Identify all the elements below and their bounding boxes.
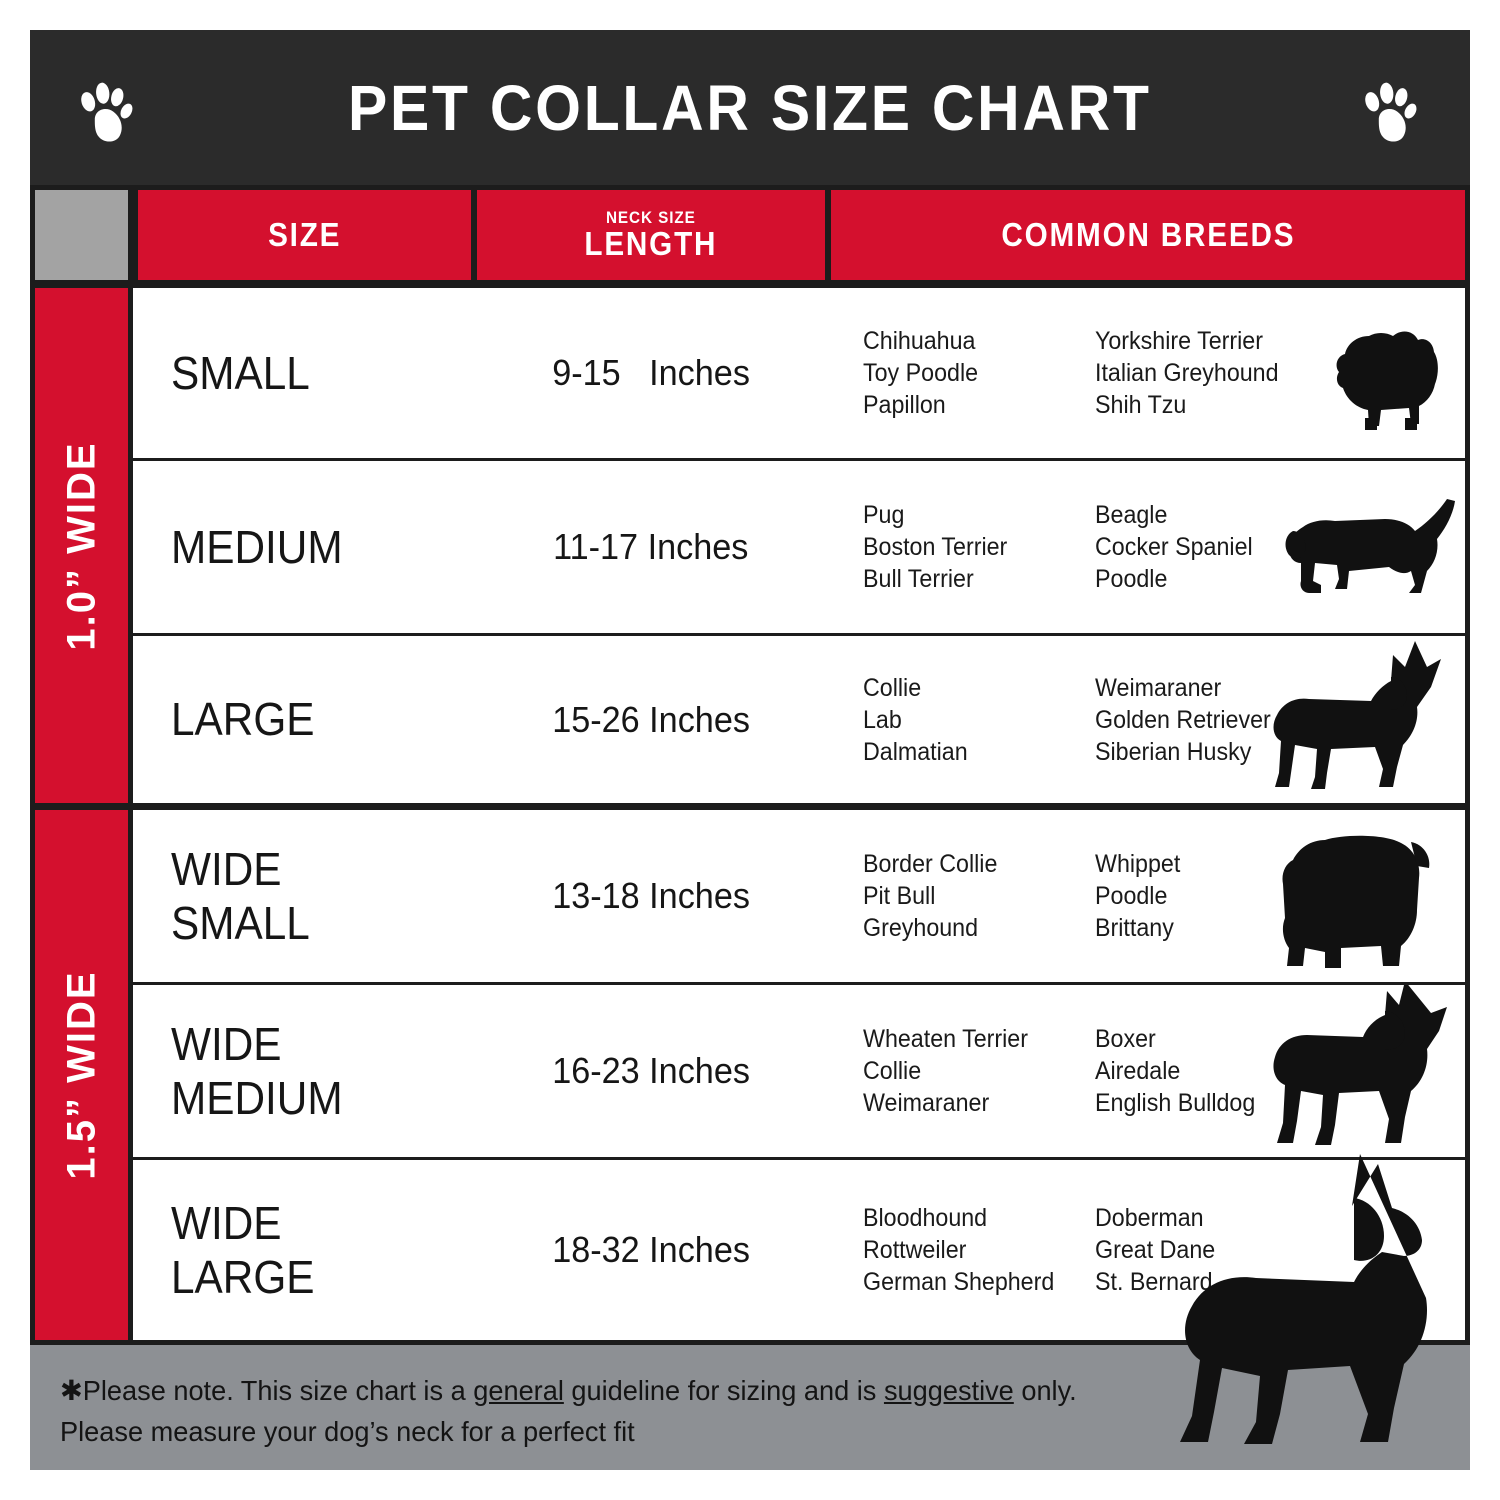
group-label-text: 1.5” WIDE	[59, 970, 104, 1179]
cell-breeds: CollieLabDalmatian WeimaranerGolden Retr…	[831, 636, 1465, 803]
breed-name: German Shepherd	[863, 1266, 1079, 1298]
length-value: 16-23 Inches	[552, 1050, 750, 1092]
table-row[interactable]: WIDE LARGE 18-32 Inches BloodhoundRottwe…	[133, 1160, 1465, 1340]
cell-breeds: ChihuahuaToy PoodlePapillon Yorkshire Te…	[831, 288, 1465, 458]
breed-list-col2: BoxerAiredaleEnglish Bulldog	[1095, 1023, 1328, 1119]
breed-list-col2: Yorkshire TerrierItalian GreyhoundShih T…	[1095, 325, 1328, 421]
breed-name: Great Dane	[1095, 1234, 1328, 1266]
breed-name: Shih Tzu	[1095, 389, 1328, 421]
breed-list-col2: DobermanGreat DaneSt. Bernard	[1095, 1202, 1328, 1298]
breed-list-col1: BloodhoundRottweilerGerman Shepherd	[863, 1202, 1079, 1298]
size-label: WIDE LARGE	[171, 1196, 314, 1305]
cell-length: 9-15 Inches	[477, 288, 825, 458]
breed-name: Airedale	[1095, 1055, 1328, 1087]
length-value: 15-26 Inches	[552, 699, 750, 741]
breed-list-col1: Wheaten TerrierCollieWeimaraner	[863, 1023, 1079, 1119]
footer-line-1: ✱Please note. This size chart is a gener…	[60, 1371, 1399, 1412]
cell-length: 16-23 Inches	[477, 985, 825, 1157]
length-value: 18-32 Inches	[552, 1229, 750, 1271]
table-row[interactable]: SMALL 9-15 Inches ChihuahuaToy PoodlePap…	[133, 288, 1465, 458]
breed-name: Rottweiler	[863, 1234, 1079, 1266]
cell-size: SMALL	[133, 288, 471, 458]
breed-name: Collie	[863, 1055, 1079, 1087]
breed-list-col2: WhippetPoodleBrittany	[1095, 848, 1328, 944]
pet-collar-size-chart: PET COLLAR SIZE CHART SIZE NECK SIZE LEN…	[30, 30, 1470, 1470]
paw-print-icon	[1359, 80, 1425, 146]
table-row[interactable]: MEDIUM 11-17 Inches PugBoston TerrierBul…	[133, 461, 1465, 633]
breed-list-col1: ChihuahuaToy PoodlePapillon	[863, 325, 1079, 421]
footer-underlined-suggestive: suggestive	[884, 1375, 1014, 1406]
cell-size: MEDIUM	[133, 461, 471, 633]
breed-name: Weimaraner	[1095, 672, 1328, 704]
breed-name: Whippet	[1095, 848, 1328, 880]
group-label-text: 1.0” WIDE	[59, 441, 104, 650]
size-label: LARGE	[171, 692, 314, 746]
chart-header: PET COLLAR SIZE CHART	[30, 30, 1470, 185]
length-value: 13-18 Inches	[552, 875, 750, 917]
column-header-size-label: SIZE	[268, 216, 341, 254]
table-header-row: SIZE NECK SIZE LENGTH COMMON BREEDS	[30, 185, 1470, 285]
cell-breeds: Wheaten TerrierCollieWeimaraner BoxerAir…	[831, 985, 1465, 1157]
breed-name: Chihuahua	[863, 325, 1079, 357]
breed-name: English Bulldog	[1095, 1087, 1328, 1119]
row-group-1-0-wide: 1.0” WIDE SMALL 9-15 Inches ChihuahuaToy…	[30, 288, 1470, 803]
breed-name: Bull Terrier	[863, 563, 1079, 595]
breed-name: Pit Bull	[863, 880, 1079, 912]
footer-text-a: ✱Please note. This size chart is a	[60, 1375, 473, 1406]
breed-name: St. Bernard	[1095, 1266, 1328, 1298]
cell-length: 13-18 Inches	[477, 810, 825, 982]
column-header-breeds-label: COMMON BREEDS	[1001, 216, 1295, 254]
breed-name: Lab	[863, 704, 1079, 736]
column-header-length-label: LENGTH	[585, 225, 718, 263]
cell-size: WIDE MEDIUM	[133, 985, 471, 1157]
cell-size: LARGE	[133, 636, 471, 803]
breed-list-col1: CollieLabDalmatian	[863, 672, 1079, 768]
footer-text-b: guideline for sizing and is	[564, 1375, 884, 1406]
cell-size: WIDE LARGE	[133, 1160, 471, 1340]
breed-name: Cocker Spaniel	[1095, 531, 1328, 563]
breed-name: Doberman	[1095, 1202, 1328, 1234]
column-header-size: SIZE	[138, 190, 471, 280]
breed-list-col2: BeagleCocker SpanielPoodle	[1095, 499, 1328, 595]
footer-note: ✱Please note. This size chart is a gener…	[30, 1345, 1470, 1470]
size-label: WIDE MEDIUM	[171, 1017, 343, 1126]
row-group-1-5-wide: 1.5” WIDE WIDE SMALL 13-18 Inches Border…	[30, 810, 1470, 1340]
column-header-length: NECK SIZE LENGTH	[477, 190, 825, 280]
table-row[interactable]: LARGE 15-26 Inches CollieLabDalmatian We…	[133, 636, 1465, 803]
breed-name: Weimaraner	[863, 1087, 1079, 1119]
size-label: WIDE SMALL	[171, 842, 310, 951]
breed-name: Boston Terrier	[863, 531, 1079, 563]
group-label-1-5-wide: 1.5” WIDE	[35, 810, 128, 1340]
breed-list-col2: WeimaranerGolden RetrieverSiberian Husky	[1095, 672, 1328, 768]
size-label: MEDIUM	[171, 520, 343, 574]
table-row[interactable]: WIDE MEDIUM 16-23 Inches Wheaten Terrier…	[133, 985, 1465, 1157]
footer-text-c: only.	[1014, 1375, 1077, 1406]
footer-line-2: Please measure your dog’s neck for a per…	[60, 1412, 1399, 1453]
group-label-1-0-wide: 1.0” WIDE	[35, 288, 128, 803]
column-header-breeds: COMMON BREEDS	[831, 190, 1465, 280]
breed-name: Dalmatian	[863, 736, 1079, 768]
page-title: PET COLLAR SIZE CHART	[348, 71, 1152, 145]
cell-size: WIDE SMALL	[133, 810, 471, 982]
table-corner-cell	[35, 190, 128, 280]
cell-length: 11-17 Inches	[477, 461, 825, 633]
breed-name: Border Collie	[863, 848, 1079, 880]
cell-length: 18-32 Inches	[477, 1160, 825, 1340]
breed-name: Beagle	[1095, 499, 1328, 531]
cell-breeds: BloodhoundRottweilerGerman Shepherd Dobe…	[831, 1160, 1465, 1340]
breed-name: Poodle	[1095, 880, 1328, 912]
group-rows: SMALL 9-15 Inches ChihuahuaToy PoodlePap…	[133, 288, 1465, 803]
breed-list-col1: Border ColliePit BullGreyhound	[863, 848, 1079, 944]
breed-name: Golden Retriever	[1095, 704, 1328, 736]
size-table: SIZE NECK SIZE LENGTH COMMON BREEDS 1.0”…	[30, 185, 1470, 1345]
length-value: 9-15 Inches	[552, 352, 750, 394]
cell-length: 15-26 Inches	[477, 636, 825, 803]
breed-name: Bloodhound	[863, 1202, 1079, 1234]
breed-list-col1: PugBoston TerrierBull Terrier	[863, 499, 1079, 595]
breed-name: Boxer	[1095, 1023, 1328, 1055]
breed-name: Pug	[863, 499, 1079, 531]
footer-underlined-general: general	[473, 1375, 564, 1406]
cell-breeds: Border ColliePit BullGreyhound WhippetPo…	[831, 810, 1465, 982]
breed-name: Yorkshire Terrier	[1095, 325, 1328, 357]
size-label: SMALL	[171, 346, 310, 400]
breed-name: Greyhound	[863, 912, 1079, 944]
breed-name: Poodle	[1095, 563, 1328, 595]
table-row[interactable]: WIDE SMALL 13-18 Inches Border ColliePit…	[133, 810, 1465, 982]
breed-name: Brittany	[1095, 912, 1328, 944]
paw-print-icon	[75, 80, 141, 146]
breed-name: Italian Greyhound	[1095, 357, 1328, 389]
group-rows: WIDE SMALL 13-18 Inches Border ColliePit…	[133, 810, 1465, 1340]
breed-name: Wheaten Terrier	[863, 1023, 1079, 1055]
length-value: 11-17 Inches	[553, 526, 748, 568]
breed-name: Toy Poodle	[863, 357, 1079, 389]
breed-name: Collie	[863, 672, 1079, 704]
breed-name: Papillon	[863, 389, 1079, 421]
cell-breeds: PugBoston TerrierBull Terrier BeagleCock…	[831, 461, 1465, 633]
breed-name: Siberian Husky	[1095, 736, 1328, 768]
